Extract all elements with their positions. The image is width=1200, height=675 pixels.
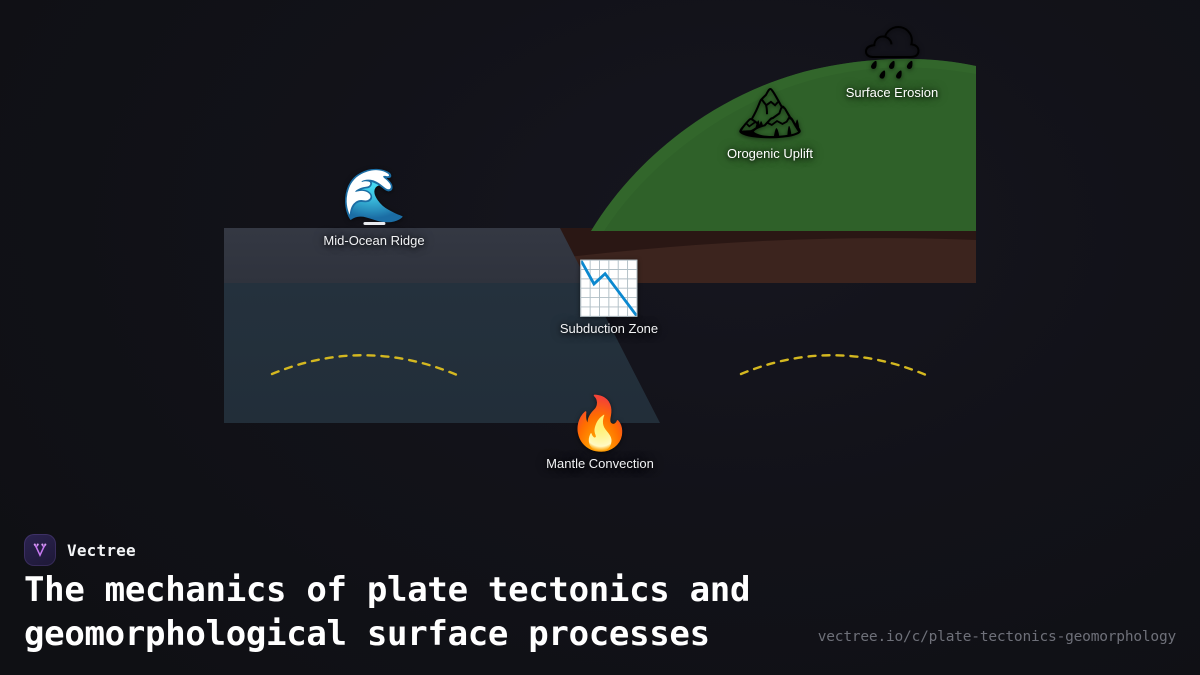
brand-lockup[interactable]: Vectree <box>24 534 136 566</box>
footer: Vectree The mechanics of plate tectonics… <box>0 520 1200 675</box>
marker-mid-ocean-ridge[interactable]: 🌊 Mid-Ocean Ridge <box>323 170 424 248</box>
marker-label-subduction-zone: Subduction Zone <box>560 321 658 336</box>
fire-icon: 🔥 <box>568 398 633 450</box>
screenshot-root: 🌊 Mid-Ocean Ridge 📉 Subduction Zone 🔥 Ma… <box>0 0 1200 675</box>
marker-mantle-convection[interactable]: 🔥 Mantle Convection <box>546 398 654 471</box>
page-title: The mechanics of plate tectonics and geo… <box>24 568 824 656</box>
marker-orogenic-uplift[interactable]: 🏔 Orogenic Uplift <box>727 88 813 161</box>
brand-name: Vectree <box>67 541 136 560</box>
ocean-wave-icon: 🌊 <box>342 170 407 222</box>
convection-arc-right <box>741 355 926 375</box>
marker-label-mid-ocean-ridge: Mid-Ocean Ridge <box>323 233 424 248</box>
cloud-with-rain-icon: 🌧 <box>859 27 925 79</box>
marker-label-surface-erosion: Surface Erosion <box>846 85 939 100</box>
chart-decreasing-icon: 📉 <box>577 263 642 315</box>
snow-capped-mountain-icon: 🏔 <box>737 88 803 140</box>
marker-surface-erosion[interactable]: 🌧 Surface Erosion <box>846 27 939 100</box>
vectree-branching-v-logo-icon <box>24 534 56 566</box>
marker-label-mantle-convection: Mantle Convection <box>546 456 654 471</box>
ridge-tick-mark <box>363 222 385 225</box>
tectonics-diagram: 🌊 Mid-Ocean Ridge 📉 Subduction Zone 🔥 Ma… <box>0 0 1200 520</box>
footer-url: vectree.io/c/plate-tectonics-geomorpholo… <box>818 629 1176 645</box>
marker-subduction-zone[interactable]: 📉 Subduction Zone <box>560 263 658 336</box>
marker-label-orogenic-uplift: Orogenic Uplift <box>727 146 813 161</box>
